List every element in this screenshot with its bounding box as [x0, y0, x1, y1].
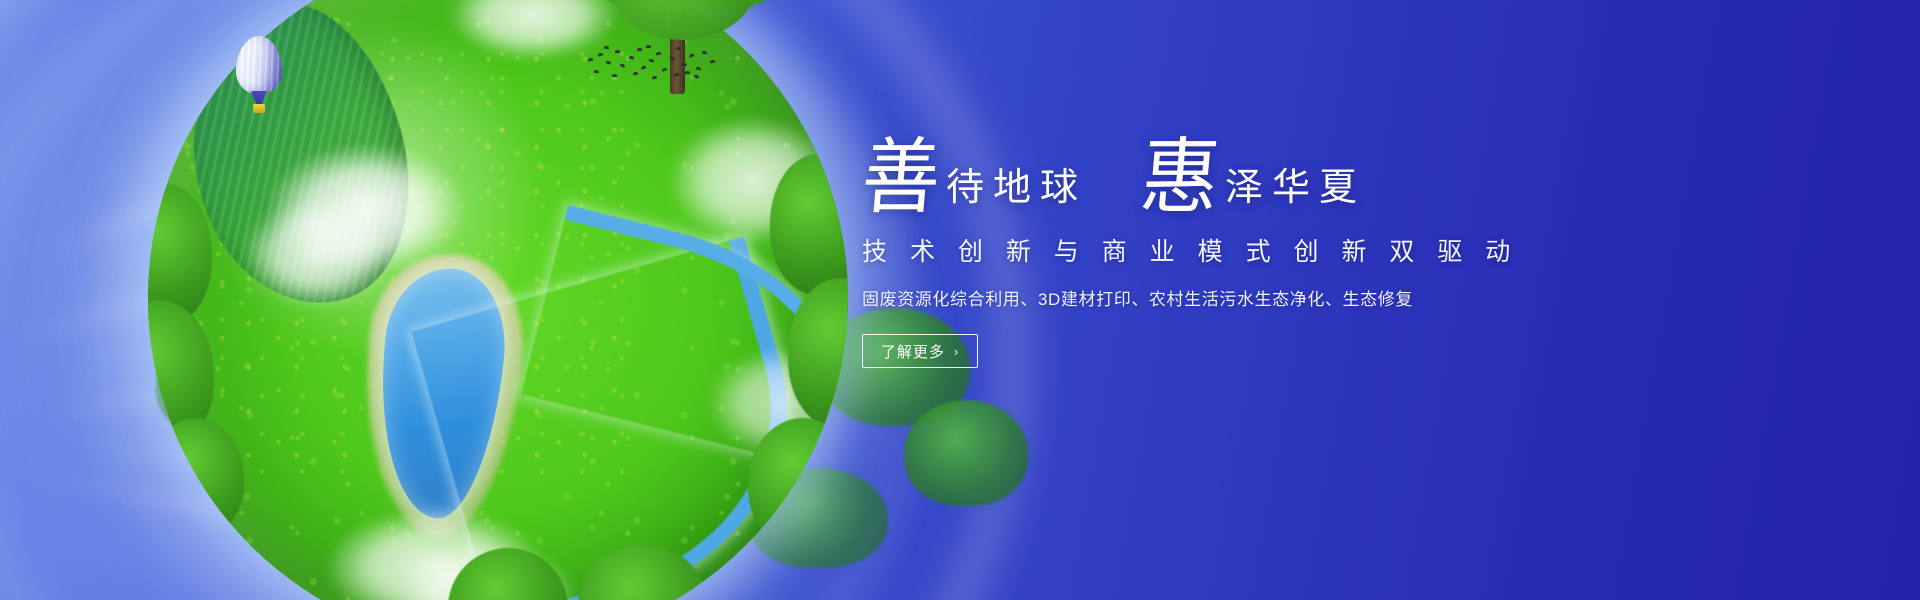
bird-icon [620, 63, 626, 68]
hero-subtitle: 技 术 创 新 与 商 业 模 式 创 新 双 驱 动 [862, 232, 1602, 268]
learn-more-button[interactable]: 了解更多 › [862, 334, 978, 368]
bird-icon [682, 63, 687, 66]
tree-icon [148, 418, 244, 538]
bird-icon [702, 51, 707, 55]
bird-icon [670, 57, 675, 60]
bird-icon [710, 60, 715, 64]
bird-icon [588, 57, 594, 61]
bird-icon [676, 46, 682, 50]
cloud-icon [244, 198, 394, 308]
bird-icon [649, 59, 654, 63]
bird-icon [674, 72, 680, 77]
bird-icon [606, 60, 612, 64]
headline-part2-big: 惠 [1138, 139, 1229, 218]
tree-icon [748, 418, 848, 548]
bird-icon [604, 46, 609, 50]
bird-icon [652, 75, 658, 79]
bird-icon [598, 52, 604, 56]
hero-description: 固废资源化综合利用、3D建材打印、农村生活污水生态净化、生态修复 [862, 285, 1602, 310]
learn-more-label: 了解更多 [881, 341, 945, 362]
balloon-neck [251, 91, 267, 104]
headline-part1-big: 善 [859, 139, 950, 218]
chevron-right-icon: › [954, 345, 959, 358]
hot-air-balloon-icon [236, 36, 286, 118]
bird-icon [694, 74, 700, 79]
bird-icon [696, 66, 702, 70]
bird-icon [656, 52, 661, 56]
bird-icon [629, 56, 635, 60]
bird-icon [612, 74, 617, 77]
balloon-basket [253, 104, 265, 113]
bird-icon [633, 72, 639, 76]
bird-icon [662, 67, 668, 72]
headline-part1-small: 待地球 [946, 169, 1087, 216]
bird-icon [615, 50, 620, 53]
bird-icon [689, 53, 695, 58]
tree-icon [904, 400, 1028, 506]
bird-icon [637, 48, 642, 52]
hero-content: 善 待地球 惠 泽华夏 技 术 创 新 与 商 业 模 式 创 新 双 驱 动 … [862, 124, 1602, 368]
bird-icon [646, 45, 651, 48]
balloon-envelope [236, 36, 282, 94]
headline-part2-small: 泽华夏 [1225, 169, 1366, 216]
tree-canopy [608, 0, 758, 40]
page-title: 善 待地球 惠 泽华夏 [862, 124, 1602, 216]
hero-banner: 善 待地球 惠 泽华夏 技 术 创 新 与 商 业 模 式 创 新 双 驱 动 … [0, 0, 1920, 600]
birds-icon [586, 44, 716, 90]
bird-icon [641, 65, 647, 70]
bird-icon [685, 71, 690, 74]
bird-icon [594, 70, 599, 74]
